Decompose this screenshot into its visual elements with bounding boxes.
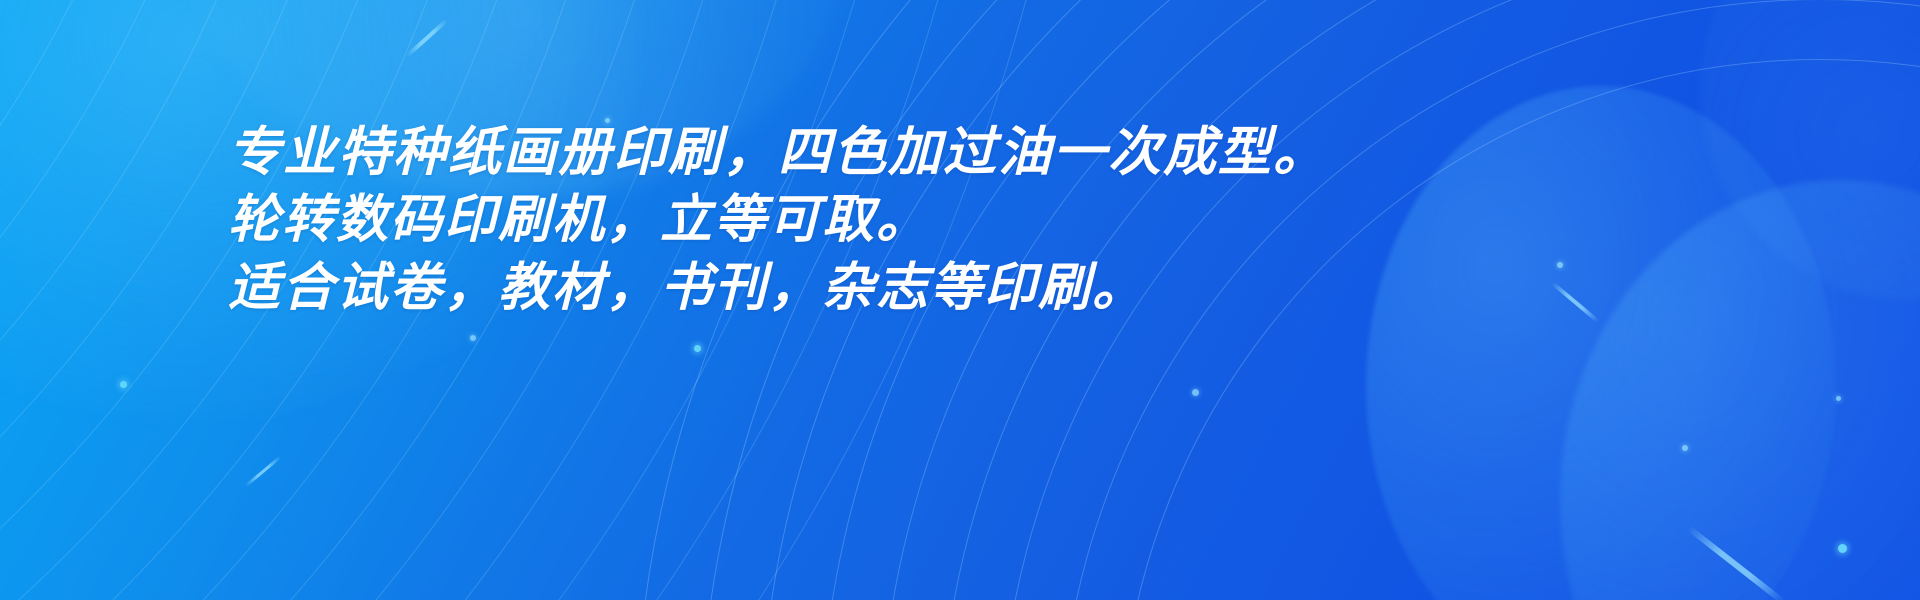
arc-ring (0, 0, 141, 600)
glow-dot (120, 381, 127, 388)
glow-dot (1682, 445, 1688, 451)
diagonal-streak (1687, 526, 1785, 600)
glow-dot (694, 345, 701, 352)
background-blob-right-lower (1560, 180, 1920, 600)
glow-dot (1838, 544, 1847, 553)
headline-copy: 专业特种纸画册印刷，四色加过油一次成型。 轮转数码印刷机，立等可取。 适合试卷，… (228, 118, 1558, 322)
arc-ring (0, 0, 206, 600)
promo-banner: 专业特种纸画册印刷，四色加过油一次成型。 轮转数码印刷机，立等可取。 适合试卷，… (0, 0, 1920, 600)
background-blob-top-right (1700, 0, 1920, 300)
glow-dot (470, 335, 476, 341)
headline-line-1: 专业特种纸画册印刷，四色加过油一次成型。 (228, 118, 1558, 186)
headline-line-3: 适合试卷，教材，书刊，杂志等印刷。 (228, 254, 1558, 322)
diagonal-streak (1551, 281, 1600, 323)
glow-dot (1836, 396, 1841, 401)
glow-dot (1192, 389, 1199, 396)
diagonal-streak (244, 456, 281, 488)
diagonal-streak (406, 18, 449, 57)
headline-line-2: 轮转数码印刷机，立等可取。 (228, 186, 1558, 254)
